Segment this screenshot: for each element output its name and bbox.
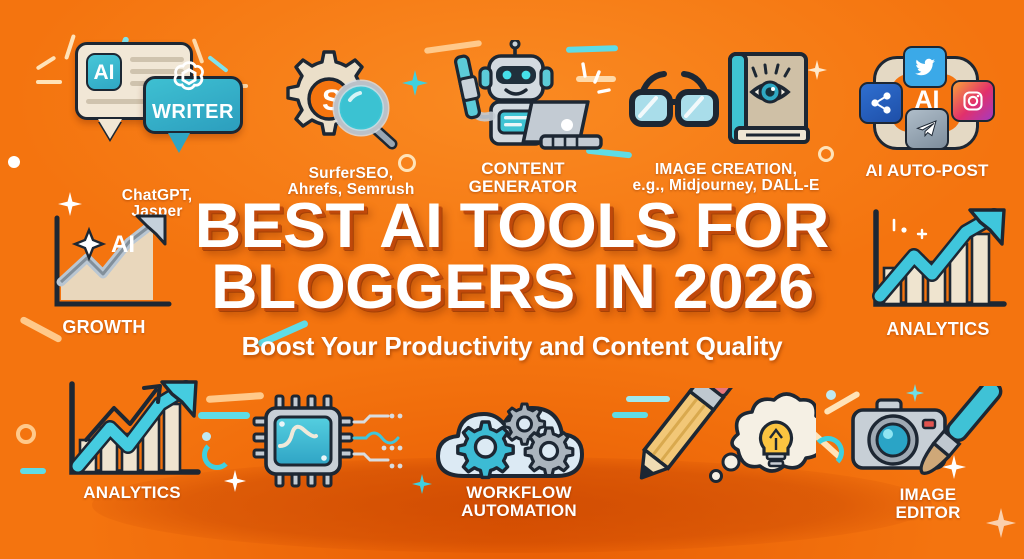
ring-decoration (16, 424, 36, 444)
share-nodes-icon (859, 82, 903, 124)
pencil-lightbulb-thought-icon (610, 388, 816, 494)
caption-line: e.g., Midjourney, DALL-E (632, 178, 819, 194)
streak-decoration (20, 468, 46, 474)
writer-badge-text: WRITER (146, 101, 240, 124)
caption-line: ANALYTICS (83, 484, 181, 502)
twitter-icon (903, 46, 947, 88)
robot-laptop-icon (433, 40, 613, 158)
topic-analytics-bottom[interactable]: ANALYTICS (52, 378, 212, 502)
chat-bubble-ai-writer-icon: AI WRITER (67, 42, 247, 154)
page-title-line-2: BLOGGERS IN 2026 (211, 257, 814, 318)
topic-ai-growth[interactable]: AI GROWTH (24, 212, 184, 337)
caption-line: AUTOMATION (461, 502, 577, 520)
ai-badge-text: AI (94, 62, 115, 83)
caption-line: IMAGE CREATION, (632, 162, 819, 178)
ai-badge-text: AI (111, 231, 135, 258)
glasses-book-eye-icon (626, 44, 826, 156)
topic-analytics-right[interactable]: ANALYTICS (858, 204, 1018, 339)
cloud-gears-icon (426, 392, 612, 482)
topic-ai-writer[interactable]: AI WRITER ChatGPT, Jasper (62, 42, 252, 221)
camera-paintbrush-icon (843, 386, 1013, 490)
caption-line: SurferSEO, (287, 166, 414, 182)
social-media-cluster-icon: AI (857, 46, 997, 154)
bar-chart-arrow-icon (56, 378, 208, 484)
gear-magnifier-seo-icon: SEO (266, 44, 436, 156)
caption-line: CONTENT (469, 160, 578, 178)
page-subtitle: Boost Your Productivity and Content Qual… (242, 331, 783, 362)
topic-ai-auto-post[interactable]: AI AI AUTO-POST (842, 46, 1012, 180)
openai-logo-icon (168, 57, 210, 99)
instagram-icon (951, 80, 995, 122)
caption-line: GENERATOR (469, 178, 578, 196)
topic-ai-chip[interactable] (248, 392, 408, 492)
infographic-poster: AI WRITER ChatGPT, Jasper (0, 0, 1024, 559)
topic-idea[interactable] (608, 388, 818, 494)
telegram-icon (905, 108, 949, 150)
topic-content-generator[interactable]: CONTENT GENERATOR (428, 40, 618, 196)
topic-image-creation[interactable]: IMAGE CREATION, e.g., Midjourney, DALL-E (614, 44, 838, 195)
caption-line: AI AUTO-POST (865, 162, 988, 180)
dot-decoration (826, 390, 836, 400)
caption-line: GROWTH (62, 318, 145, 337)
line-chart-growth-icon: AI (29, 212, 179, 316)
caption-line: WORKFLOW (461, 484, 577, 502)
caption-line: ChatGPT, (122, 188, 193, 204)
cpu-chip-waveform-icon (250, 392, 406, 492)
caption-line: ANALYTICS (886, 320, 989, 339)
topic-workflow-automation[interactable]: WORKFLOW AUTOMATION (424, 392, 614, 520)
topic-seo[interactable]: SEO SurferSEO, Ahrefs, Semrush (256, 44, 446, 199)
topic-image-editor[interactable]: IMAGE EDITOR (842, 386, 1014, 522)
bar-chart-arrow-icon (862, 204, 1014, 318)
caption-line: Ahrefs, Semrush (287, 182, 414, 198)
dot-decoration (8, 156, 20, 168)
streak-decoration (257, 319, 309, 347)
page-title-line-1: BEST AI TOOLS FOR (195, 196, 829, 257)
caption-line: EDITOR (895, 504, 960, 522)
